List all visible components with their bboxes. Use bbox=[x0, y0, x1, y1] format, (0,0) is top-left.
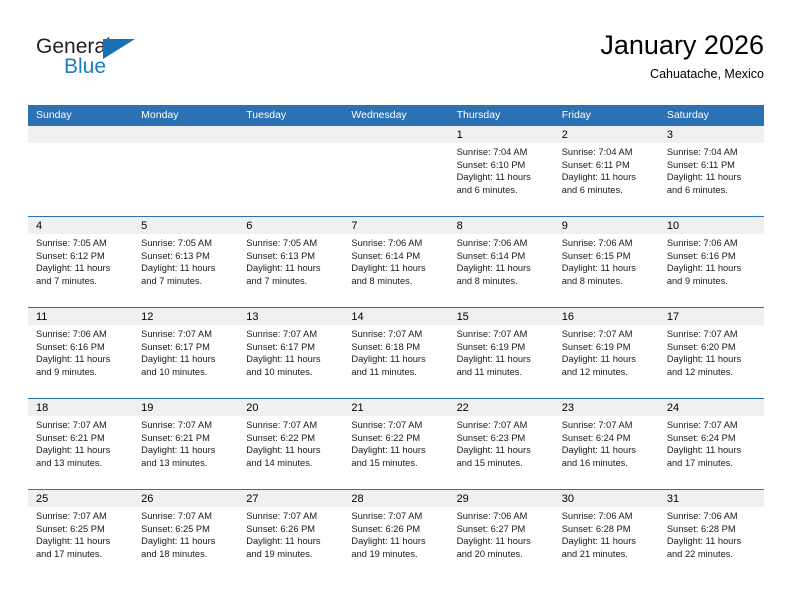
day-number: 11 bbox=[36, 309, 47, 325]
day-number: 19 bbox=[141, 400, 153, 416]
calendar-week-row: 1Sunrise: 7:04 AMSunset: 6:10 PMDaylight… bbox=[28, 126, 764, 216]
day-number: 3 bbox=[667, 127, 673, 143]
day-detail-line: Sunrise: 7:07 AM bbox=[141, 510, 232, 523]
day-detail-line: Sunrise: 7:04 AM bbox=[562, 146, 653, 159]
day-number: 22 bbox=[457, 400, 469, 416]
page-header: General Blue January 2026 Cahuatache, Me… bbox=[28, 28, 764, 98]
day-number: 14 bbox=[351, 309, 363, 325]
day-detail-line: Sunset: 6:24 PM bbox=[562, 432, 653, 445]
brand-logo[interactable]: General Blue bbox=[36, 36, 166, 86]
day-detail-line: Sunset: 6:14 PM bbox=[351, 250, 442, 263]
day-detail-line: Daylight: 11 hours bbox=[246, 444, 337, 457]
calendar-day-cell[interactable]: 6Sunrise: 7:05 AMSunset: 6:13 PMDaylight… bbox=[238, 217, 343, 307]
day-detail-line: Sunset: 6:17 PM bbox=[141, 341, 232, 354]
day-detail-line: and 11 minutes. bbox=[457, 366, 548, 379]
day-detail-line: Sunrise: 7:07 AM bbox=[351, 419, 442, 432]
day-detail-line: and 6 minutes. bbox=[457, 184, 548, 197]
day-number-band bbox=[554, 126, 659, 143]
day-detail-line: and 17 minutes. bbox=[667, 457, 758, 470]
day-detail-line: Daylight: 11 hours bbox=[36, 535, 127, 548]
day-detail-line: Sunrise: 7:07 AM bbox=[562, 328, 653, 341]
calendar-day-cell[interactable]: 16Sunrise: 7:07 AMSunset: 6:19 PMDayligh… bbox=[554, 308, 659, 398]
day-detail-line: Sunrise: 7:07 AM bbox=[36, 419, 127, 432]
day-detail-line: Daylight: 11 hours bbox=[457, 353, 548, 366]
day-details: Sunrise: 7:07 AMSunset: 6:21 PMDaylight:… bbox=[133, 416, 238, 469]
day-detail-line: and 13 minutes. bbox=[141, 457, 232, 470]
day-number: 13 bbox=[246, 309, 258, 325]
calendar-week-row: 4Sunrise: 7:05 AMSunset: 6:12 PMDaylight… bbox=[28, 216, 764, 307]
day-detail-line: Daylight: 11 hours bbox=[562, 535, 653, 548]
day-detail-line: Sunset: 6:23 PM bbox=[457, 432, 548, 445]
day-detail-line: Daylight: 11 hours bbox=[562, 262, 653, 275]
triangle-flag-icon bbox=[103, 39, 135, 59]
day-detail-line: and 6 minutes. bbox=[667, 184, 758, 197]
day-number: 25 bbox=[36, 491, 48, 507]
day-detail-line: Sunrise: 7:07 AM bbox=[562, 419, 653, 432]
day-detail-line: Sunset: 6:25 PM bbox=[36, 523, 127, 536]
day-detail-line: Sunrise: 7:05 AM bbox=[141, 237, 232, 250]
weekday-header-row: SundayMondayTuesdayWednesdayThursdayFrid… bbox=[28, 105, 764, 126]
calendar-day-cell[interactable]: 2Sunrise: 7:04 AMSunset: 6:11 PMDaylight… bbox=[554, 126, 659, 216]
day-detail-line: Daylight: 11 hours bbox=[351, 535, 442, 548]
calendar-day-cell[interactable]: 9Sunrise: 7:06 AMSunset: 6:15 PMDaylight… bbox=[554, 217, 659, 307]
day-detail-line: and 10 minutes. bbox=[246, 366, 337, 379]
day-detail-line: Sunset: 6:14 PM bbox=[457, 250, 548, 263]
calendar-day-cell[interactable]: 21Sunrise: 7:07 AMSunset: 6:22 PMDayligh… bbox=[343, 399, 448, 489]
day-detail-line: Sunset: 6:10 PM bbox=[457, 159, 548, 172]
day-detail-line: and 22 minutes. bbox=[667, 548, 758, 561]
day-detail-line: and 9 minutes. bbox=[667, 275, 758, 288]
day-number-band bbox=[449, 217, 554, 234]
day-detail-line: Sunset: 6:16 PM bbox=[36, 341, 127, 354]
day-detail-line: Sunset: 6:18 PM bbox=[351, 341, 442, 354]
day-number-band bbox=[659, 126, 764, 143]
day-number: 1 bbox=[457, 127, 463, 143]
calendar-day-cell[interactable]: 13Sunrise: 7:07 AMSunset: 6:17 PMDayligh… bbox=[238, 308, 343, 398]
day-detail-line: and 8 minutes. bbox=[457, 275, 548, 288]
day-detail-line: and 16 minutes. bbox=[562, 457, 653, 470]
day-details: Sunrise: 7:07 AMSunset: 6:26 PMDaylight:… bbox=[343, 507, 448, 560]
day-detail-line: and 10 minutes. bbox=[141, 366, 232, 379]
day-detail-line: Sunrise: 7:06 AM bbox=[351, 237, 442, 250]
day-details: Sunrise: 7:06 AMSunset: 6:16 PMDaylight:… bbox=[28, 325, 133, 378]
day-number: 5 bbox=[141, 218, 147, 234]
day-detail-line: and 6 minutes. bbox=[562, 184, 653, 197]
calendar-day-cell[interactable]: 4Sunrise: 7:05 AMSunset: 6:12 PMDaylight… bbox=[28, 217, 133, 307]
day-detail-line: Daylight: 11 hours bbox=[351, 262, 442, 275]
day-detail-line: Sunrise: 7:06 AM bbox=[667, 510, 758, 523]
day-number-band bbox=[133, 217, 238, 234]
day-details: Sunrise: 7:07 AMSunset: 6:25 PMDaylight:… bbox=[133, 507, 238, 560]
day-details: Sunrise: 7:06 AMSunset: 6:15 PMDaylight:… bbox=[554, 234, 659, 287]
day-detail-line: Sunset: 6:28 PM bbox=[667, 523, 758, 536]
day-number: 31 bbox=[667, 491, 679, 507]
day-details: Sunrise: 7:07 AMSunset: 6:24 PMDaylight:… bbox=[554, 416, 659, 469]
weekday-header-tuesday: Tuesday bbox=[238, 105, 343, 126]
day-detail-line: Sunrise: 7:07 AM bbox=[246, 419, 337, 432]
day-detail-line: Daylight: 11 hours bbox=[667, 171, 758, 184]
day-detail-line: Daylight: 11 hours bbox=[246, 262, 337, 275]
calendar-empty-cell bbox=[133, 126, 238, 216]
day-detail-line: and 13 minutes. bbox=[36, 457, 127, 470]
day-detail-line: Sunset: 6:13 PM bbox=[141, 250, 232, 263]
day-number: 28 bbox=[351, 491, 363, 507]
day-details: Sunrise: 7:07 AMSunset: 6:19 PMDaylight:… bbox=[554, 325, 659, 378]
day-details: Sunrise: 7:07 AMSunset: 6:25 PMDaylight:… bbox=[28, 507, 133, 560]
day-number: 2 bbox=[562, 127, 568, 143]
calendar-day-cell[interactable]: 5Sunrise: 7:05 AMSunset: 6:13 PMDaylight… bbox=[133, 217, 238, 307]
calendar-empty-cell bbox=[343, 126, 448, 216]
day-details: Sunrise: 7:06 AMSunset: 6:28 PMDaylight:… bbox=[554, 507, 659, 560]
day-detail-line: and 17 minutes. bbox=[36, 548, 127, 561]
day-detail-line: Sunrise: 7:07 AM bbox=[36, 510, 127, 523]
day-detail-line: Sunset: 6:13 PM bbox=[246, 250, 337, 263]
calendar-day-cell[interactable]: 12Sunrise: 7:07 AMSunset: 6:17 PMDayligh… bbox=[133, 308, 238, 398]
day-number: 26 bbox=[141, 491, 153, 507]
calendar-day-cell[interactable]: 25Sunrise: 7:07 AMSunset: 6:25 PMDayligh… bbox=[28, 490, 133, 580]
day-detail-line: Daylight: 11 hours bbox=[246, 353, 337, 366]
day-number: 16 bbox=[562, 309, 574, 325]
location-subtitle: Cahuatache, Mexico bbox=[600, 64, 764, 84]
weekday-header-thursday: Thursday bbox=[449, 105, 554, 126]
day-details: Sunrise: 7:07 AMSunset: 6:23 PMDaylight:… bbox=[449, 416, 554, 469]
calendar-day-cell[interactable]: 3Sunrise: 7:04 AMSunset: 6:11 PMDaylight… bbox=[659, 126, 764, 216]
day-detail-line: Daylight: 11 hours bbox=[562, 171, 653, 184]
day-detail-line: Daylight: 11 hours bbox=[141, 262, 232, 275]
day-detail-line: Daylight: 11 hours bbox=[351, 353, 442, 366]
day-details: Sunrise: 7:07 AMSunset: 6:22 PMDaylight:… bbox=[238, 416, 343, 469]
day-detail-line: and 14 minutes. bbox=[246, 457, 337, 470]
calendar-weeks: 1Sunrise: 7:04 AMSunset: 6:10 PMDaylight… bbox=[28, 126, 764, 580]
day-details: Sunrise: 7:06 AMSunset: 6:14 PMDaylight:… bbox=[449, 234, 554, 287]
day-detail-line: Sunset: 6:22 PM bbox=[246, 432, 337, 445]
day-detail-line: Daylight: 11 hours bbox=[562, 444, 653, 457]
day-detail-line: Sunrise: 7:05 AM bbox=[36, 237, 127, 250]
day-detail-line: Daylight: 11 hours bbox=[246, 535, 337, 548]
day-number: 27 bbox=[246, 491, 258, 507]
day-detail-line: Sunset: 6:12 PM bbox=[36, 250, 127, 263]
day-details: Sunrise: 7:07 AMSunset: 6:26 PMDaylight:… bbox=[238, 507, 343, 560]
day-detail-line: Daylight: 11 hours bbox=[36, 444, 127, 457]
day-number: 8 bbox=[457, 218, 463, 234]
day-detail-line: Sunrise: 7:07 AM bbox=[667, 328, 758, 341]
day-detail-line: and 19 minutes. bbox=[351, 548, 442, 561]
day-detail-line: and 7 minutes. bbox=[246, 275, 337, 288]
day-number: 20 bbox=[246, 400, 258, 416]
day-details: Sunrise: 7:05 AMSunset: 6:12 PMDaylight:… bbox=[28, 234, 133, 287]
day-number: 6 bbox=[246, 218, 252, 234]
brand-name-bottom: Blue bbox=[64, 56, 106, 78]
day-details: Sunrise: 7:06 AMSunset: 6:27 PMDaylight:… bbox=[449, 507, 554, 560]
day-number-band bbox=[133, 126, 238, 143]
day-number: 18 bbox=[36, 400, 48, 416]
day-detail-line: Sunset: 6:11 PM bbox=[562, 159, 653, 172]
day-detail-line: Daylight: 11 hours bbox=[457, 444, 548, 457]
day-detail-line: Sunset: 6:21 PM bbox=[141, 432, 232, 445]
day-detail-line: Daylight: 11 hours bbox=[562, 353, 653, 366]
calendar-week-row: 11Sunrise: 7:06 AMSunset: 6:16 PMDayligh… bbox=[28, 307, 764, 398]
day-number-band bbox=[28, 217, 133, 234]
day-detail-line: Daylight: 11 hours bbox=[457, 171, 548, 184]
weekday-header-friday: Friday bbox=[554, 105, 659, 126]
day-detail-line: Sunrise: 7:06 AM bbox=[36, 328, 127, 341]
day-details: Sunrise: 7:07 AMSunset: 6:17 PMDaylight:… bbox=[238, 325, 343, 378]
day-details: Sunrise: 7:07 AMSunset: 6:21 PMDaylight:… bbox=[28, 416, 133, 469]
calendar-day-cell[interactable]: 27Sunrise: 7:07 AMSunset: 6:26 PMDayligh… bbox=[238, 490, 343, 580]
day-detail-line: Sunset: 6:25 PM bbox=[141, 523, 232, 536]
day-detail-line: Daylight: 11 hours bbox=[141, 444, 232, 457]
calendar-day-cell[interactable]: 8Sunrise: 7:06 AMSunset: 6:14 PMDaylight… bbox=[449, 217, 554, 307]
calendar-day-cell[interactable]: 22Sunrise: 7:07 AMSunset: 6:23 PMDayligh… bbox=[449, 399, 554, 489]
calendar-week-row: 18Sunrise: 7:07 AMSunset: 6:21 PMDayligh… bbox=[28, 398, 764, 489]
day-number: 17 bbox=[667, 309, 679, 325]
calendar-day-cell[interactable]: 23Sunrise: 7:07 AMSunset: 6:24 PMDayligh… bbox=[554, 399, 659, 489]
calendar-day-cell[interactable]: 1Sunrise: 7:04 AMSunset: 6:10 PMDaylight… bbox=[449, 126, 554, 216]
day-detail-line: and 9 minutes. bbox=[36, 366, 127, 379]
calendar-grid: SundayMondayTuesdayWednesdayThursdayFrid… bbox=[28, 105, 764, 580]
day-number: 12 bbox=[141, 309, 153, 325]
day-detail-line: and 8 minutes. bbox=[351, 275, 442, 288]
day-detail-line: Daylight: 11 hours bbox=[36, 262, 127, 275]
calendar-empty-cell bbox=[28, 126, 133, 216]
day-number-band bbox=[343, 126, 448, 143]
calendar-empty-cell bbox=[238, 126, 343, 216]
calendar-day-cell[interactable]: 30Sunrise: 7:06 AMSunset: 6:28 PMDayligh… bbox=[554, 490, 659, 580]
day-details: Sunrise: 7:07 AMSunset: 6:24 PMDaylight:… bbox=[659, 416, 764, 469]
day-detail-line: Sunrise: 7:06 AM bbox=[667, 237, 758, 250]
calendar-day-cell[interactable]: 17Sunrise: 7:07 AMSunset: 6:20 PMDayligh… bbox=[659, 308, 764, 398]
calendar-day-cell[interactable]: 29Sunrise: 7:06 AMSunset: 6:27 PMDayligh… bbox=[449, 490, 554, 580]
day-detail-line: Sunrise: 7:06 AM bbox=[457, 237, 548, 250]
day-detail-line: Sunrise: 7:04 AM bbox=[667, 146, 758, 159]
calendar-day-cell[interactable]: 7Sunrise: 7:06 AMSunset: 6:14 PMDaylight… bbox=[343, 217, 448, 307]
day-detail-line: Sunset: 6:21 PM bbox=[36, 432, 127, 445]
day-detail-line: Sunset: 6:19 PM bbox=[457, 341, 548, 354]
day-detail-line: Sunset: 6:22 PM bbox=[351, 432, 442, 445]
day-details: Sunrise: 7:06 AMSunset: 6:16 PMDaylight:… bbox=[659, 234, 764, 287]
day-detail-line: Sunset: 6:17 PM bbox=[246, 341, 337, 354]
day-details: Sunrise: 7:07 AMSunset: 6:19 PMDaylight:… bbox=[449, 325, 554, 378]
day-detail-line: Sunset: 6:16 PM bbox=[667, 250, 758, 263]
calendar-day-cell[interactable]: 15Sunrise: 7:07 AMSunset: 6:19 PMDayligh… bbox=[449, 308, 554, 398]
day-detail-line: and 21 minutes. bbox=[562, 548, 653, 561]
calendar-day-cell[interactable]: 24Sunrise: 7:07 AMSunset: 6:24 PMDayligh… bbox=[659, 399, 764, 489]
day-detail-line: Sunrise: 7:07 AM bbox=[141, 419, 232, 432]
day-detail-line: Sunrise: 7:07 AM bbox=[351, 328, 442, 341]
day-number-band bbox=[554, 217, 659, 234]
day-details: Sunrise: 7:04 AMSunset: 6:10 PMDaylight:… bbox=[449, 143, 554, 196]
day-number: 30 bbox=[562, 491, 574, 507]
day-details: Sunrise: 7:06 AMSunset: 6:28 PMDaylight:… bbox=[659, 507, 764, 560]
day-detail-line: and 12 minutes. bbox=[562, 366, 653, 379]
day-detail-line: Sunrise: 7:05 AM bbox=[246, 237, 337, 250]
day-details: Sunrise: 7:05 AMSunset: 6:13 PMDaylight:… bbox=[133, 234, 238, 287]
day-detail-line: Daylight: 11 hours bbox=[457, 262, 548, 275]
day-detail-line: Sunset: 6:15 PM bbox=[562, 250, 653, 263]
day-detail-line: Sunrise: 7:06 AM bbox=[457, 510, 548, 523]
day-detail-line: and 19 minutes. bbox=[246, 548, 337, 561]
day-detail-line: Sunrise: 7:07 AM bbox=[246, 328, 337, 341]
day-detail-line: and 12 minutes. bbox=[667, 366, 758, 379]
day-detail-line: Sunset: 6:28 PM bbox=[562, 523, 653, 536]
day-detail-line: Daylight: 11 hours bbox=[351, 444, 442, 457]
day-number: 24 bbox=[667, 400, 679, 416]
day-detail-line: Daylight: 11 hours bbox=[667, 262, 758, 275]
day-number-band bbox=[238, 217, 343, 234]
day-details: Sunrise: 7:07 AMSunset: 6:20 PMDaylight:… bbox=[659, 325, 764, 378]
day-number: 10 bbox=[667, 218, 679, 234]
day-detail-line: and 8 minutes. bbox=[562, 275, 653, 288]
calendar-day-cell[interactable]: 26Sunrise: 7:07 AMSunset: 6:25 PMDayligh… bbox=[133, 490, 238, 580]
day-detail-line: Sunset: 6:26 PM bbox=[351, 523, 442, 536]
calendar-day-cell[interactable]: 19Sunrise: 7:07 AMSunset: 6:21 PMDayligh… bbox=[133, 399, 238, 489]
day-details: Sunrise: 7:06 AMSunset: 6:14 PMDaylight:… bbox=[343, 234, 448, 287]
day-detail-line: Sunrise: 7:07 AM bbox=[141, 328, 232, 341]
day-number: 15 bbox=[457, 309, 469, 325]
calendar-day-cell[interactable]: 11Sunrise: 7:06 AMSunset: 6:16 PMDayligh… bbox=[28, 308, 133, 398]
day-detail-line: Daylight: 11 hours bbox=[36, 353, 127, 366]
day-detail-line: Sunset: 6:19 PM bbox=[562, 341, 653, 354]
day-details: Sunrise: 7:07 AMSunset: 6:22 PMDaylight:… bbox=[343, 416, 448, 469]
day-detail-line: Daylight: 11 hours bbox=[141, 353, 232, 366]
day-details: Sunrise: 7:04 AMSunset: 6:11 PMDaylight:… bbox=[554, 143, 659, 196]
page-title: January 2026 bbox=[600, 28, 764, 62]
day-details: Sunrise: 7:05 AMSunset: 6:13 PMDaylight:… bbox=[238, 234, 343, 287]
day-detail-line: and 7 minutes. bbox=[141, 275, 232, 288]
day-detail-line: Daylight: 11 hours bbox=[667, 444, 758, 457]
day-detail-line: and 15 minutes. bbox=[351, 457, 442, 470]
calendar-day-cell[interactable]: 31Sunrise: 7:06 AMSunset: 6:28 PMDayligh… bbox=[659, 490, 764, 580]
day-detail-line: Sunset: 6:26 PM bbox=[246, 523, 337, 536]
calendar-day-cell[interactable]: 10Sunrise: 7:06 AMSunset: 6:16 PMDayligh… bbox=[659, 217, 764, 307]
day-details: Sunrise: 7:04 AMSunset: 6:11 PMDaylight:… bbox=[659, 143, 764, 196]
day-detail-line: Daylight: 11 hours bbox=[667, 535, 758, 548]
calendar-day-cell[interactable]: 14Sunrise: 7:07 AMSunset: 6:18 PMDayligh… bbox=[343, 308, 448, 398]
day-detail-line: and 18 minutes. bbox=[141, 548, 232, 561]
calendar-day-cell[interactable]: 28Sunrise: 7:07 AMSunset: 6:26 PMDayligh… bbox=[343, 490, 448, 580]
day-details: Sunrise: 7:07 AMSunset: 6:17 PMDaylight:… bbox=[133, 325, 238, 378]
day-detail-line: Daylight: 11 hours bbox=[457, 535, 548, 548]
calendar-page: General Blue January 2026 Cahuatache, Me… bbox=[0, 0, 792, 612]
day-detail-line: Sunrise: 7:06 AM bbox=[562, 510, 653, 523]
calendar-day-cell[interactable]: 18Sunrise: 7:07 AMSunset: 6:21 PMDayligh… bbox=[28, 399, 133, 489]
day-number-band bbox=[238, 126, 343, 143]
day-number-band bbox=[28, 126, 133, 143]
day-detail-line: Daylight: 11 hours bbox=[667, 353, 758, 366]
day-detail-line: Sunset: 6:24 PM bbox=[667, 432, 758, 445]
weekday-header-monday: Monday bbox=[133, 105, 238, 126]
weekday-header-wednesday: Wednesday bbox=[343, 105, 448, 126]
day-detail-line: Sunrise: 7:06 AM bbox=[562, 237, 653, 250]
day-number: 29 bbox=[457, 491, 469, 507]
day-detail-line: Sunrise: 7:07 AM bbox=[667, 419, 758, 432]
day-number: 7 bbox=[351, 218, 357, 234]
weekday-header-sunday: Sunday bbox=[28, 105, 133, 126]
day-number-band bbox=[343, 217, 448, 234]
day-detail-line: Sunrise: 7:07 AM bbox=[246, 510, 337, 523]
day-detail-line: and 7 minutes. bbox=[36, 275, 127, 288]
day-detail-line: Sunset: 6:11 PM bbox=[667, 159, 758, 172]
day-detail-line: Sunrise: 7:07 AM bbox=[457, 419, 548, 432]
day-number: 4 bbox=[36, 218, 42, 234]
day-detail-line: Sunset: 6:27 PM bbox=[457, 523, 548, 536]
day-detail-line: Daylight: 11 hours bbox=[141, 535, 232, 548]
day-detail-line: and 15 minutes. bbox=[457, 457, 548, 470]
day-detail-line: Sunset: 6:20 PM bbox=[667, 341, 758, 354]
day-detail-line: Sunrise: 7:07 AM bbox=[457, 328, 548, 341]
day-detail-line: and 20 minutes. bbox=[457, 548, 548, 561]
calendar-week-row: 25Sunrise: 7:07 AMSunset: 6:25 PMDayligh… bbox=[28, 489, 764, 580]
day-number: 23 bbox=[562, 400, 574, 416]
day-number: 9 bbox=[562, 218, 568, 234]
weekday-header-saturday: Saturday bbox=[659, 105, 764, 126]
day-detail-line: Sunrise: 7:07 AM bbox=[351, 510, 442, 523]
day-number: 21 bbox=[351, 400, 363, 416]
day-detail-line: Sunrise: 7:04 AM bbox=[457, 146, 548, 159]
day-detail-line: and 11 minutes. bbox=[351, 366, 442, 379]
calendar-day-cell[interactable]: 20Sunrise: 7:07 AMSunset: 6:22 PMDayligh… bbox=[238, 399, 343, 489]
day-number-band bbox=[449, 126, 554, 143]
day-details: Sunrise: 7:07 AMSunset: 6:18 PMDaylight:… bbox=[343, 325, 448, 378]
title-block: January 2026 Cahuatache, Mexico bbox=[600, 28, 764, 84]
